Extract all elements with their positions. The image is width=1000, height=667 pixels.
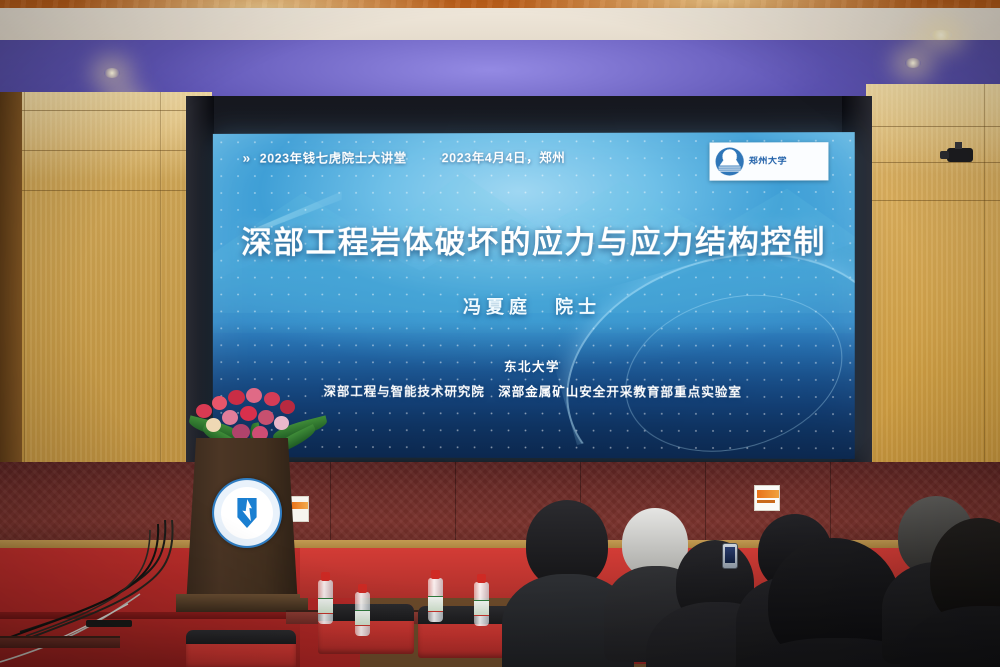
panel-seam [0,190,212,191]
panel-seam [0,150,212,151]
water-bottle [355,592,370,636]
flower-bloom [280,400,295,414]
flower-bloom [228,390,245,405]
slide-speaker: 冯夏庭 院士 [213,293,855,319]
bottle-cap [431,570,440,579]
smartphone-recording-icon [722,543,738,569]
flower-bloom [222,410,238,425]
flower-bloom [258,410,274,425]
flower-bloom [240,406,257,421]
bottle-cap [477,574,486,583]
flower-bloom [212,396,227,410]
panel-seam [830,462,831,540]
flower-bloom [206,418,221,432]
panel-seam [0,110,212,111]
seat-headrest [186,630,296,644]
bottle-label [428,596,443,612]
flower-bloom [274,416,289,430]
ceiling-downlight [930,30,952,40]
flower-bloom [264,392,280,406]
bottle-cap [321,572,330,581]
panel-seam [866,200,1000,201]
slide-logo-text: 郑州大学 [749,156,787,166]
flower-bloom [246,388,262,403]
panel-seam [866,126,1000,127]
panel-seam [705,462,706,540]
flower-bloom [232,424,250,440]
panel-seam [455,462,456,540]
ceiling-downlight [905,58,921,68]
conference-table [0,636,120,648]
lecture-hall-photo: » 2023年钱七虎院士大讲堂 2023年4月4日，郑州 郑州大学 深部工程岩体… [0,0,1000,667]
wall-light-wash [0,92,212,182]
slide-logo: 郑州大学 [710,142,829,180]
ceiling-downlight [104,68,120,78]
bottle-label [318,598,333,614]
university-crest-icon [212,478,282,548]
water-bottle [318,580,333,624]
security-camera-icon [947,148,973,162]
slide-header: » 2023年钱七虎院士大讲堂 2023年4月4日，郑州 [243,147,566,167]
bottle-label [355,610,370,626]
wall-notice-sign [754,485,780,511]
mountain-wave-logo-icon [716,147,744,175]
slide-header-date: 2023年4月4日，郑州 [442,147,566,166]
bottle-label [474,600,489,616]
water-bottle [428,578,443,622]
water-bottle [474,582,489,626]
double-chevron-icon: » [243,149,251,165]
bottle-cap [358,584,367,593]
flower-bloom [196,404,212,418]
slide-title: 深部工程岩体破坏的应力与应力结构控制 [213,217,855,263]
panel-seam [866,162,1000,163]
slide-organization-university: 东北大学 [213,356,855,376]
slide-header-event: 2023年钱七虎院士大讲堂 [260,147,407,166]
auditorium-seat [186,630,296,667]
wall-light-wash [866,84,1000,174]
